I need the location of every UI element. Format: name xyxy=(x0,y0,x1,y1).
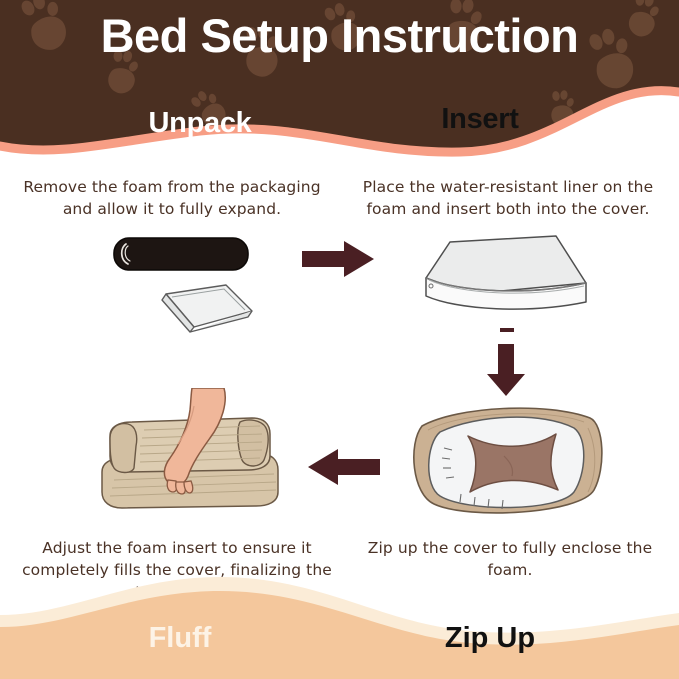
step-label-unpack: Unpack xyxy=(60,107,340,140)
hand-fluffing-bed-illustration xyxy=(88,388,320,525)
page-title: Bed Setup Instruction xyxy=(0,10,679,62)
arrow-right-icon xyxy=(300,238,378,285)
arrow-down-icon xyxy=(484,342,528,403)
caption-unpack: Remove the foam from the packaging and a… xyxy=(14,176,330,221)
step-label-insert: Insert xyxy=(340,103,620,136)
rolled-foam-and-liner-illustration xyxy=(104,232,284,342)
header-banner: Bed Setup Instruction Unpack Insert xyxy=(0,0,679,175)
caption-insert: Place the water-resistant liner on the f… xyxy=(348,176,668,221)
step-label-zip-up: Zip Up xyxy=(350,622,630,655)
instruction-infographic: Bed Setup Instruction Unpack Insert Remo… xyxy=(0,0,679,679)
zipped-dog-bed-cover-illustration xyxy=(398,398,618,525)
step-label-fluff: Fluff xyxy=(40,622,320,655)
foam-with-liner-illustration xyxy=(408,228,598,343)
